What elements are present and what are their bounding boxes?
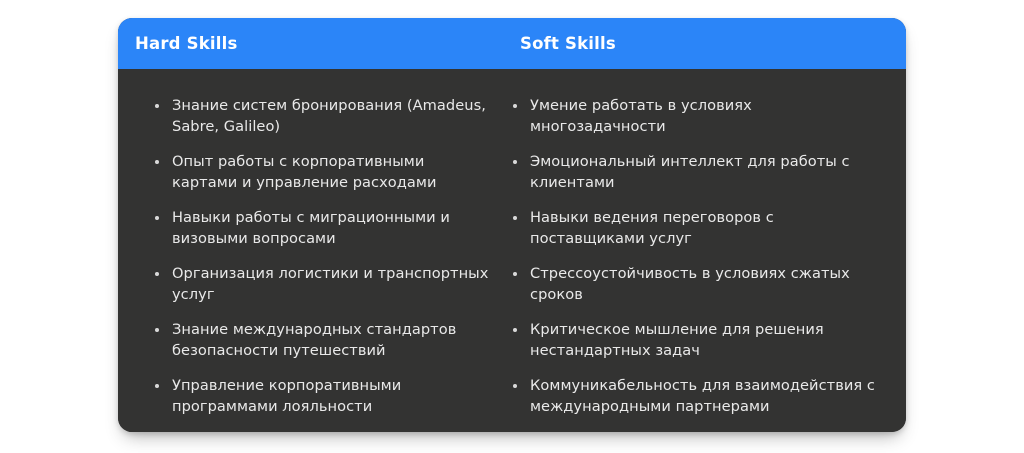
bullet-dot-icon [155,384,159,388]
list-item-text: Организация логистики и транспортных усл… [172,263,494,305]
bullet-dot-icon [155,160,159,164]
page-root: Hard Skills Soft Skills Знание систем бр… [0,0,1024,453]
column-header-hard-skills: Hard Skills [118,34,504,53]
list-item-text: Коммуникабельность для взаимодействия с … [530,375,892,417]
list-item: Стрессоустойчивость в условиях сжатых ср… [512,263,892,305]
bullet-dot-icon [513,104,517,108]
column-header-soft-skills: Soft Skills [504,34,906,53]
bullet-dot-icon [155,104,159,108]
bullet-dot-icon [155,272,159,276]
list-item-text: Управление корпоративными программами ло… [172,375,494,417]
bullet-dot-icon [155,328,159,332]
list-item: Опыт работы с корпоративными картами и у… [154,151,494,193]
column-hard-skills: Знание систем бронирования (Amadeus, Sab… [118,69,504,417]
list-item-text: Критическое мышление для решения нестанд… [530,319,892,361]
list-item-text: Стрессоустойчивость в условиях сжатых ср… [530,263,892,305]
list-item: Эмоциональный интеллект для работы с кли… [512,151,892,193]
list-item: Знание международных стандартов безопасн… [154,319,494,361]
list-item: Знание систем бронирования (Amadeus, Sab… [154,95,494,137]
bullet-dot-icon [513,328,517,332]
list-item-text: Знание систем бронирования (Amadeus, Sab… [172,95,494,137]
list-item: Навыки работы с миграционными и визовыми… [154,207,494,249]
bullet-dot-icon [513,384,517,388]
bullet-dot-icon [513,160,517,164]
list-item: Умение работать в условиях многозадачнос… [512,95,892,137]
list-item: Критическое мышление для решения нестанд… [512,319,892,361]
list-item-text: Навыки ведения переговоров с поставщикам… [530,207,892,249]
bullet-dot-icon [155,216,159,220]
hard-skills-list: Знание систем бронирования (Amadeus, Sab… [154,95,494,417]
column-soft-skills: Умение работать в условиях многозадачнос… [504,69,906,417]
soft-skills-list: Умение работать в условиях многозадачнос… [512,95,892,417]
skills-comparison-card: Hard Skills Soft Skills Знание систем бр… [118,18,906,432]
list-item-text: Знание международных стандартов безопасн… [172,319,494,361]
card-header-bar: Hard Skills Soft Skills [118,18,906,69]
list-item-text: Умение работать в условиях многозадачнос… [530,95,892,137]
list-item: Коммуникабельность для взаимодействия с … [512,375,892,417]
list-item: Управление корпоративными программами ло… [154,375,494,417]
list-item-text: Опыт работы с корпоративными картами и у… [172,151,494,193]
list-item-text: Навыки работы с миграционными и визовыми… [172,207,494,249]
list-item-text: Эмоциональный интеллект для работы с кли… [530,151,892,193]
bullet-dot-icon [513,216,517,220]
card-body: Знание систем бронирования (Amadeus, Sab… [118,69,906,432]
list-item: Организация логистики и транспортных усл… [154,263,494,305]
list-item: Навыки ведения переговоров с поставщикам… [512,207,892,249]
bullet-dot-icon [513,272,517,276]
